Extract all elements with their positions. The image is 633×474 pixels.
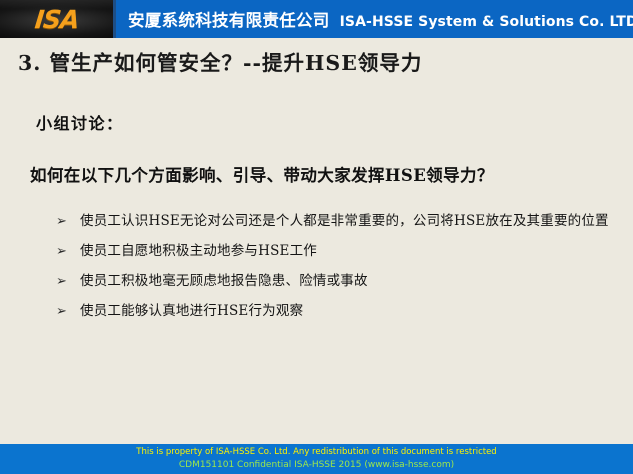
arrow-bullet-icon: ➢ [56,210,80,233]
company-name-cn: 安厦系统科技有限责任公司 [128,7,330,31]
discussion-question: 如何在以下几个方面影响、引导、带动大家发挥HSE领导力？ [30,162,494,186]
arrow-bullet-icon: ➢ [56,240,80,263]
footer-spacer [0,436,633,444]
bullet-list: ➢ 使员工认识HSE无论对公司还是个人都是非常重要的，公司将HSE放在及其重要的… [56,210,611,330]
list-item: ➢ 使员工自愿地积极主动地参与HSE工作 [56,240,611,263]
slide-content: 3. 管生产如何管安全？--提升HSE领导力 小组讨论： 如何在以下几个方面影响… [0,38,633,436]
list-item: ➢ 使员工积极地毫无顾虑地报告隐患、险情或事故 [56,270,611,293]
footer-copyright-notice: This is property of ISA-HSSE Co. Ltd. An… [0,446,633,459]
list-item: ➢ 使员工能够认真地进行HSE行为观察 [56,300,611,323]
slide-header: ISA 安厦系统科技有限责任公司 ISA-HSSE System & Solut… [0,0,633,38]
arrow-bullet-icon: ➢ [56,270,80,293]
page-title: 3. 管生产如何管安全？--提升HSE领导力 [18,46,422,76]
isa-logo: ISA [0,0,113,38]
section-subheading: 小组讨论： [36,110,124,134]
isa-logo-text: ISA [33,7,79,32]
slide-canvas: ISA 安厦系统科技有限责任公司 ISA-HSSE System & Solut… [0,0,633,474]
list-item-label: 使员工认识HSE无论对公司还是个人都是非常重要的，公司将HSE放在及其重要的位置 [80,210,611,233]
list-item-label: 使员工能够认真地进行HSE行为观察 [80,300,611,323]
company-name-en: ISA-HSSE System & Solutions Co. LTD [340,14,633,30]
arrow-bullet-icon: ➢ [56,300,80,323]
header-title-group: 安厦系统科技有限责任公司 ISA-HSSE System & Solutions… [116,7,633,31]
list-item: ➢ 使员工认识HSE无论对公司还是个人都是非常重要的，公司将HSE放在及其重要的… [56,210,611,233]
footer-document-id: CDM151101 Confidential ISA-HSSE 2015 (ww… [0,459,633,472]
list-item-label: 使员工积极地毫无顾虑地报告隐患、险情或事故 [80,270,611,293]
slide-footer: This is property of ISA-HSSE Co. Ltd. An… [0,444,633,474]
list-item-label: 使员工自愿地积极主动地参与HSE工作 [80,240,611,263]
